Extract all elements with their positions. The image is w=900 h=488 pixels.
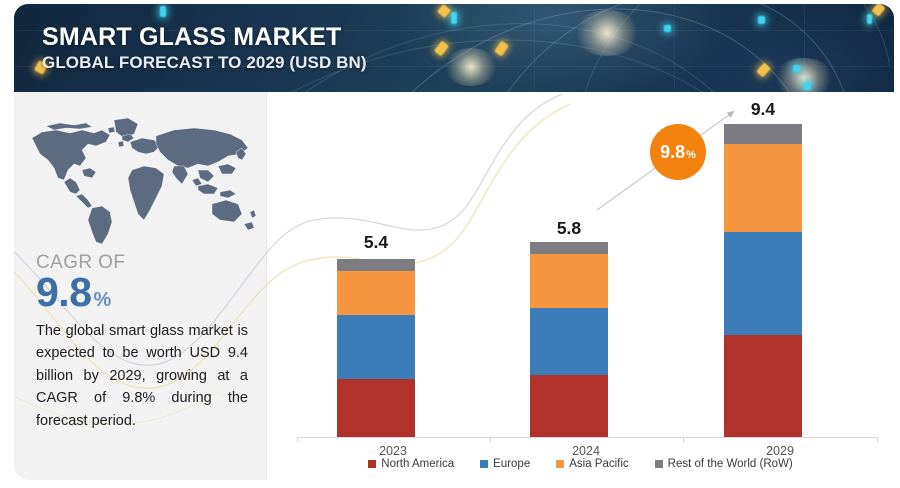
world-map	[22, 108, 262, 248]
bar-segment-north-america	[337, 379, 415, 437]
cagr-callout-value: 9.8	[660, 124, 685, 180]
bar-segment-rest-of-the-world-row	[337, 259, 415, 271]
cagr-block: CAGR OF 9.8 %	[36, 252, 125, 313]
banner-glow	[444, 48, 498, 86]
bar-stack	[337, 259, 415, 437]
bar-segment-europe	[530, 308, 608, 376]
chart-area: 9.8 % 5.45.89.4 2023 2024 2029	[267, 92, 894, 480]
category-label-1: 2024	[531, 444, 641, 458]
bar-segment-europe	[724, 232, 802, 334]
banner-glint-cyan	[793, 65, 800, 72]
bar-segment-europe	[337, 315, 415, 379]
legend-swatch-icon	[368, 460, 376, 468]
banner-glint-cyan	[867, 14, 872, 24]
axis-tick	[297, 437, 298, 442]
legend-item[interactable]: Europe	[480, 458, 530, 470]
banner-glint-cyan	[160, 6, 166, 17]
category-label-2: 2029	[725, 444, 835, 458]
bar-segment-north-america	[724, 335, 802, 437]
bar-segment-asia-pacific	[724, 144, 802, 233]
bar-stack	[530, 242, 608, 437]
legend-swatch-icon	[655, 460, 663, 468]
header-text-block: SMART GLASS MARKET GLOBAL FORECAST TO 20…	[42, 24, 367, 73]
banner-glint-amber	[437, 4, 451, 18]
legend-label: Asia Pacific	[569, 458, 628, 470]
x-axis-line	[297, 437, 877, 438]
world-map-icon	[22, 108, 262, 248]
legend-label: Europe	[493, 458, 530, 470]
banner-glint-cyan	[451, 12, 457, 24]
banner-glow	[574, 10, 640, 56]
bar-segment-asia-pacific	[337, 271, 415, 316]
bar-segment-north-america	[530, 375, 608, 437]
bar-segment-asia-pacific	[530, 254, 608, 308]
cagr-percent-symbol: %	[94, 289, 112, 312]
infographic-card: SMART GLASS MARKET GLOBAL FORECAST TO 20…	[0, 0, 900, 488]
axis-tick	[877, 437, 878, 442]
body-area: CAGR OF 9.8 % The global smart glass mar…	[14, 92, 894, 480]
cagr-value-row: 9.8 %	[36, 272, 125, 313]
banner-glint-cyan	[758, 16, 765, 24]
cagr-callout-bubble: 9.8 %	[650, 124, 706, 180]
category-label-0: 2023	[338, 444, 448, 458]
legend-swatch-icon	[480, 460, 488, 468]
legend-item[interactable]: North America	[368, 458, 454, 470]
bar-segment-rest-of-the-world-row	[724, 124, 802, 144]
bar-segment-rest-of-the-world-row	[530, 242, 608, 254]
cagr-value: 9.8	[36, 272, 92, 313]
legend-swatch-icon	[556, 460, 564, 468]
chart-legend: North AmericaEuropeAsia PacificRest of t…	[267, 458, 894, 470]
legend-item[interactable]: Asia Pacific	[556, 458, 628, 470]
bar-total-label-2024: 5.8	[530, 218, 608, 239]
bar-total-label-2023: 5.4	[337, 232, 415, 253]
banner-glint-amber	[872, 4, 886, 17]
legend-label: North America	[381, 458, 454, 470]
legend-item[interactable]: Rest of the World (RoW)	[655, 458, 793, 470]
page-title: SMART GLASS MARKET	[42, 24, 367, 50]
legend-label: Rest of the World (RoW)	[668, 458, 793, 470]
bar-total-label-2029: 9.4	[724, 99, 802, 120]
summary-paragraph: The global smart glass market is expecte…	[36, 320, 248, 432]
header-banner: SMART GLASS MARKET GLOBAL FORECAST TO 20…	[14, 4, 894, 92]
axis-tick	[683, 437, 684, 442]
banner-glint-cyan	[664, 25, 671, 32]
banner-glint-cyan	[804, 82, 811, 90]
axis-tick	[490, 437, 491, 442]
bar-plot: 5.45.89.4	[297, 100, 877, 437]
bar-stack	[724, 124, 802, 437]
page-subtitle: GLOBAL FORECAST TO 2029 (USD BN)	[42, 53, 367, 73]
cagr-callout-percent: %	[686, 127, 696, 183]
